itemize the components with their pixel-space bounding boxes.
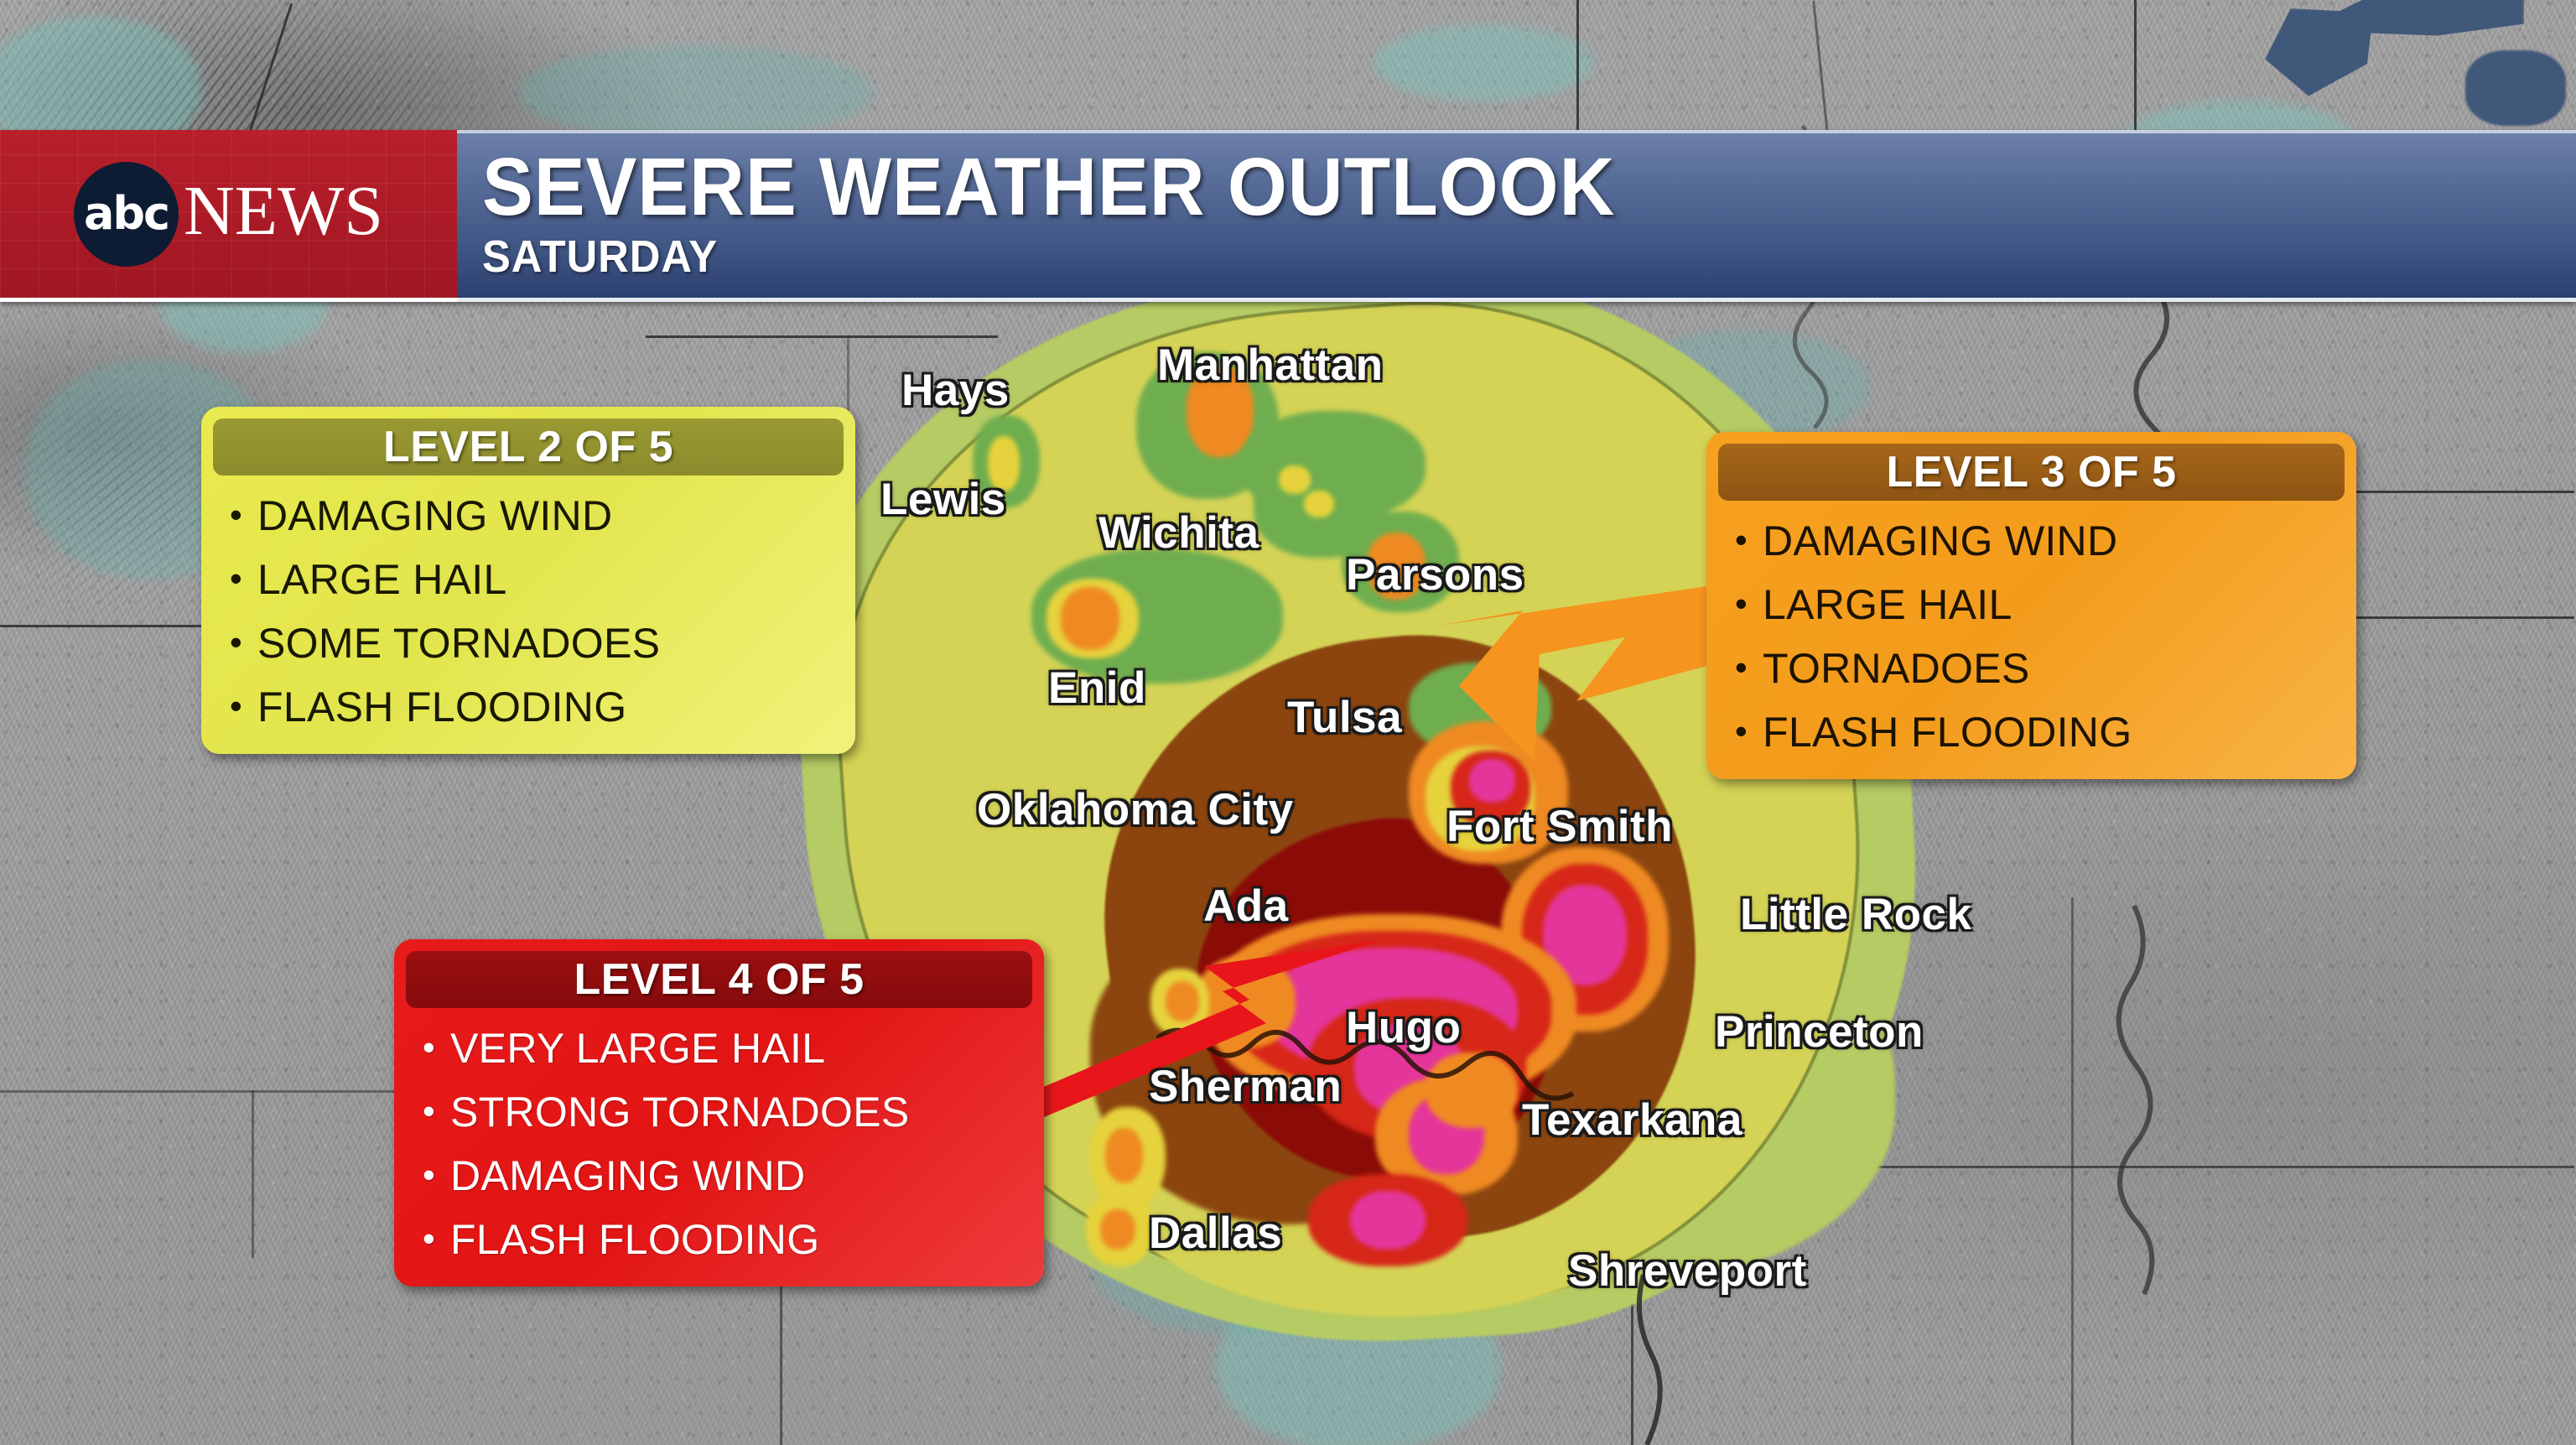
bullet-icon: • (1735, 650, 1748, 685)
list-item: • STRONG TORNADOES (423, 1080, 1044, 1144)
weather-map-screen: abc NEWS SEVERE WEATHER OUTLOOK SATURDAY… (0, 0, 2576, 1445)
city-label: Texarkana (1522, 1094, 1742, 1146)
bullet-icon: • (423, 1221, 435, 1256)
list-item: • DAMAGING WIND (1735, 509, 2356, 573)
title-banner: abc NEWS SEVERE WEATHER OUTLOOK SATURDAY (0, 130, 2576, 302)
bullet-icon: • (423, 1157, 435, 1193)
list-item: • FLASH FLOODING (423, 1208, 1044, 1271)
state-border-line (2071, 897, 2074, 1445)
water-body-lake-small (2465, 50, 2566, 126)
legend-item-label: FLASH FLOODING (450, 1208, 819, 1271)
city-label: Manhattan (1157, 340, 1384, 391)
list-item: • DAMAGING WIND (230, 484, 855, 548)
state-border-line (2134, 0, 2137, 134)
city-label: Tulsa (1287, 692, 1402, 743)
legend-item-label: LARGE HAIL (257, 548, 507, 611)
vegetation-patch (520, 46, 872, 138)
legend-card-level-3-list: • DAMAGING WIND • LARGE HAIL • TORNADOES… (1706, 509, 2356, 764)
legend-item-label: FLASH FLOODING (1763, 700, 2132, 764)
list-item: • TORNADOES (1735, 637, 2356, 700)
list-item: • SOME TORNADOES (230, 611, 855, 675)
legend-item-label: DAMAGING WIND (257, 484, 612, 548)
list-item: • FLASH FLOODING (230, 675, 855, 739)
legend-item-label: DAMAGING WIND (450, 1144, 805, 1208)
bullet-icon: • (230, 561, 242, 596)
city-label: Lewis (880, 474, 1006, 525)
vegetation-patch (1375, 25, 1593, 101)
list-item: • LARGE HAIL (1735, 573, 2356, 637)
banner-title-area: SEVERE WEATHER OUTLOOK SATURDAY (457, 130, 2576, 302)
bullet-icon: • (1735, 522, 1748, 558)
abc-news-logo[interactable]: abc NEWS (0, 130, 457, 302)
city-label: Enid (1048, 663, 1146, 714)
bullet-icon: • (423, 1030, 435, 1065)
bullet-icon: • (423, 1094, 435, 1129)
city-label: Parsons (1346, 549, 1524, 600)
abc-logo-text: abc (84, 191, 169, 237)
list-item: • VERY LARGE HAIL (423, 1016, 1044, 1080)
bullet-icon: • (1735, 714, 1748, 749)
list-item: • LARGE HAIL (230, 548, 855, 611)
legend-card-level-4-header: LEVEL 4 OF 5 (406, 951, 1032, 1008)
legend-card-level-3-title: LEVEL 3 OF 5 (1886, 447, 2176, 497)
list-item: • FLASH FLOODING (1735, 700, 2356, 764)
legend-item-label: DAMAGING WIND (1763, 509, 2117, 573)
legend-card-level-2-title: LEVEL 2 OF 5 (383, 422, 673, 472)
radar-cell (1100, 1209, 1135, 1250)
city-label: Dallas (1149, 1208, 1282, 1259)
legend-item-label: LARGE HAIL (1763, 573, 2012, 637)
bullet-icon: • (230, 497, 242, 533)
radar-cell (1279, 465, 1311, 494)
city-label: Hugo (1346, 1002, 1461, 1053)
radar-cell (1304, 491, 1334, 517)
legend-card-level-2[interactable]: LEVEL 2 OF 5 • DAMAGING WIND • LARGE HAI… (201, 407, 855, 754)
radar-cell (1350, 1191, 1426, 1250)
state-border-line (646, 335, 998, 338)
bullet-icon: • (230, 689, 242, 724)
network-name-text: NEWS (184, 176, 383, 252)
city-label: Shreveport (1568, 1245, 1807, 1297)
legend-item-label: FLASH FLOODING (257, 675, 626, 739)
radar-cell (1426, 1053, 1518, 1128)
legend-card-level-4-list: • VERY LARGE HAIL • STRONG TORNADOES • D… (394, 1016, 1044, 1271)
legend-item-label: TORNADOES (1763, 637, 2030, 700)
legend-card-level-3-header: LEVEL 3 OF 5 (1718, 444, 2345, 501)
county-border-line (252, 1090, 254, 1258)
legend-card-level-3[interactable]: LEVEL 3 OF 5 • DAMAGING WIND • LARGE HAI… (1706, 432, 2356, 779)
city-label: Wichita (1098, 507, 1259, 559)
legend-card-level-4-title: LEVEL 4 OF 5 (574, 954, 864, 1005)
city-label: Oklahoma City (977, 784, 1294, 835)
city-label: Little Rock (1740, 889, 1971, 940)
legend-card-level-2-header: LEVEL 2 OF 5 (213, 418, 844, 476)
county-border-line (780, 1266, 782, 1445)
legend-card-level-4[interactable]: LEVEL 4 OF 5 • VERY LARGE HAIL • STRONG … (394, 939, 1044, 1286)
bullet-icon: • (230, 625, 242, 660)
legend-item-label: SOME TORNADOES (257, 611, 660, 675)
bullet-icon: • (1735, 586, 1748, 621)
city-label: Ada (1203, 881, 1289, 932)
city-label: Princeton (1715, 1006, 1924, 1058)
page-subtitle: SATURDAY (482, 231, 2450, 283)
county-border-line (0, 1090, 444, 1093)
city-label: Fort Smith (1446, 801, 1673, 852)
legend-card-level-2-list: • DAMAGING WIND • LARGE HAIL • SOME TORN… (201, 484, 855, 739)
legend-item-label: STRONG TORNADOES (450, 1080, 909, 1144)
city-label: Hays (901, 365, 1010, 416)
abc-logo-icon: abc (74, 162, 179, 267)
city-label: Sherman (1149, 1061, 1342, 1112)
legend-item-label: VERY LARGE HAIL (450, 1016, 825, 1080)
radar-cell (1061, 587, 1119, 650)
list-item: • DAMAGING WIND (423, 1144, 1044, 1208)
page-title: SEVERE WEATHER OUTLOOK (482, 148, 2450, 226)
